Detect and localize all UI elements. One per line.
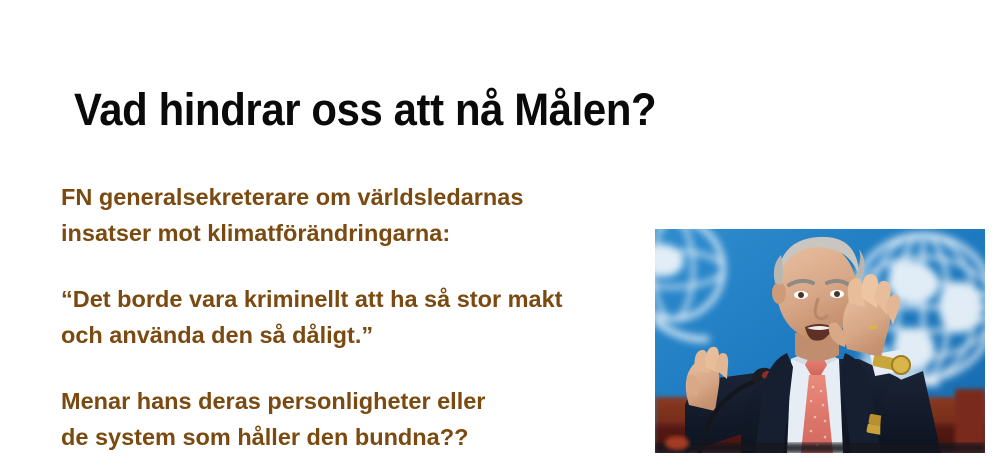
body-text-block: FN generalsekreterare om världsledarnas … <box>61 179 641 455</box>
paragraph-quote: “Det borde vara kriminellt att ha så sto… <box>61 281 641 353</box>
paragraph-question: Menar hans deras personligheter eller de… <box>61 383 641 455</box>
page-title: Vad hindrar oss att nå Målen? <box>74 86 656 133</box>
photo-un-secretary-general <box>655 229 985 453</box>
slide-canvas: Vad hindrar oss att nå Målen? FN general… <box>0 0 1000 468</box>
photo-illustration <box>655 229 985 453</box>
paragraph-intro: FN generalsekreterare om världsledarnas … <box>61 179 641 251</box>
